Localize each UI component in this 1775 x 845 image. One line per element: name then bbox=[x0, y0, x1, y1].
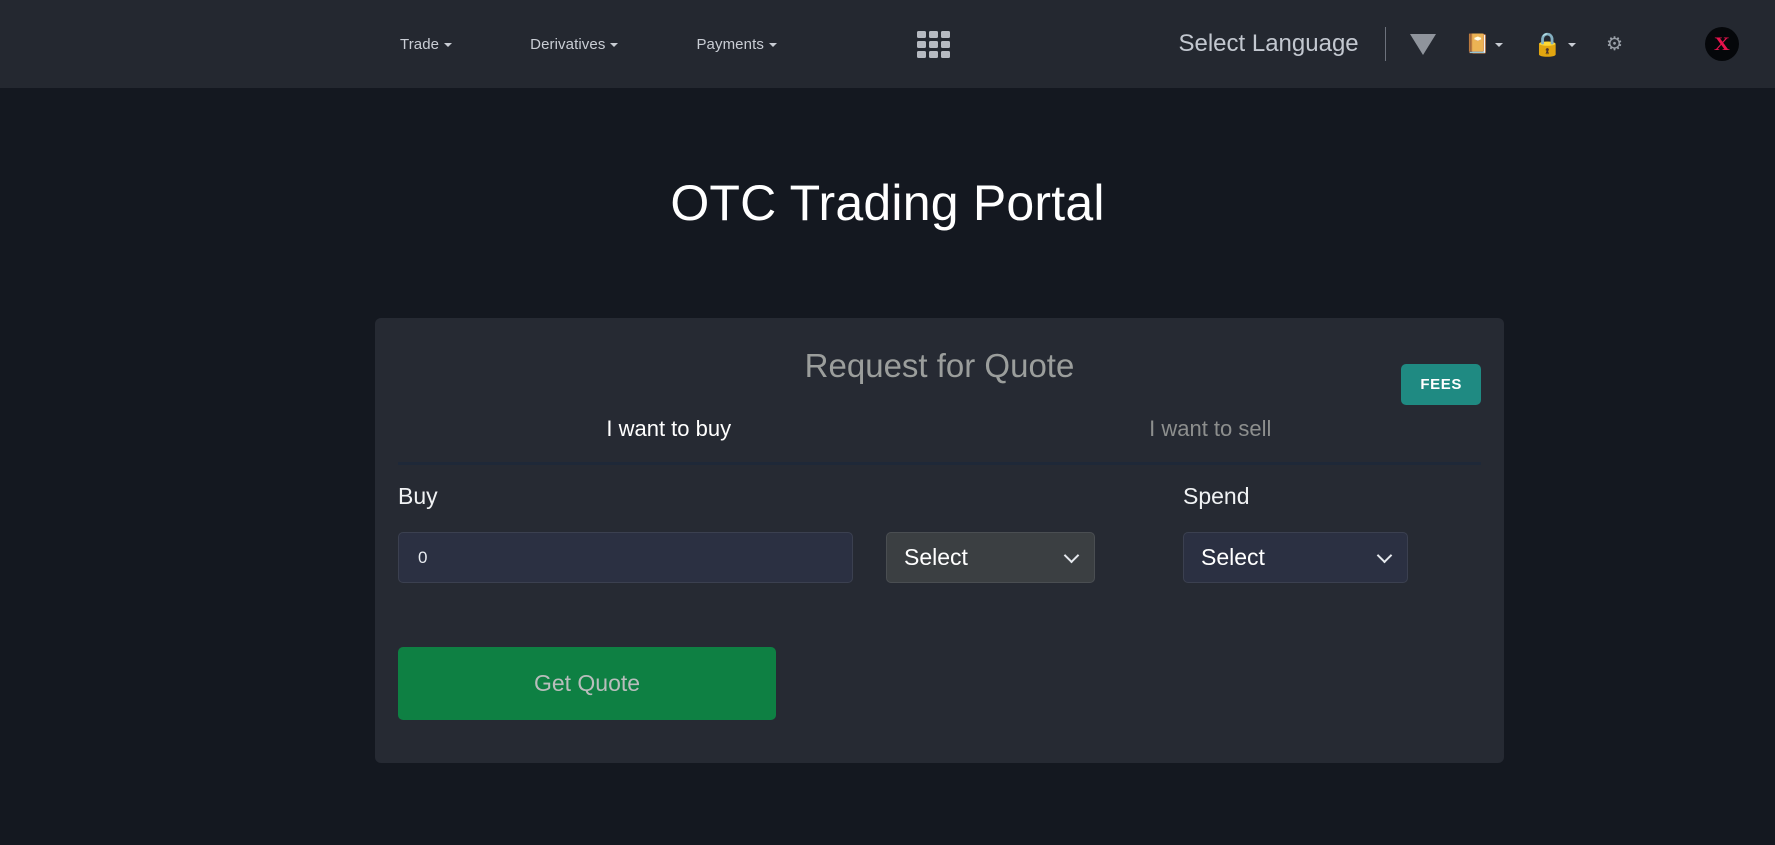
nav-item-payments[interactable]: Payments bbox=[696, 36, 777, 53]
grid-cell bbox=[929, 51, 938, 58]
caret-down-icon bbox=[610, 43, 618, 47]
buy-currency-select-value: Select bbox=[904, 544, 968, 571]
grid-cell bbox=[917, 51, 926, 58]
caret-down-icon bbox=[769, 43, 777, 47]
get-quote-button[interactable]: Get Quote bbox=[398, 647, 776, 720]
buy-input-row: Select bbox=[398, 532, 1140, 583]
nav-item-derivatives-label: Derivatives bbox=[530, 36, 605, 53]
triangle-down-icon[interactable] bbox=[1410, 34, 1436, 55]
grid-cell bbox=[917, 41, 926, 48]
buy-currency-select[interactable]: Select bbox=[886, 532, 1095, 583]
gear-glyph: ⚙ bbox=[1606, 35, 1623, 54]
select-language-button[interactable]: Select Language bbox=[1178, 30, 1358, 58]
tab-i-want-to-buy[interactable]: I want to buy bbox=[398, 416, 940, 442]
grid-apps-icon[interactable] bbox=[917, 31, 950, 58]
form-row: Buy Select Spend Select bbox=[398, 483, 1481, 583]
card-header: Request for Quote FEES bbox=[375, 318, 1504, 428]
spend-currency-select-value: Select bbox=[1201, 544, 1265, 571]
spend-column: Spend Select bbox=[1183, 483, 1438, 583]
grid-cell bbox=[941, 51, 950, 58]
quote-form: Buy Select Spend Select Get Quote bbox=[398, 483, 1481, 720]
chevron-down-icon bbox=[1064, 548, 1080, 564]
tab-i-want-to-sell[interactable]: I want to sell bbox=[940, 416, 1482, 442]
buy-column: Buy Select bbox=[398, 483, 1140, 583]
chevron-down-icon bbox=[1495, 43, 1503, 47]
triangle-down-glyph bbox=[1410, 34, 1436, 55]
avatar-initial: X bbox=[1714, 35, 1730, 54]
buy-amount-input[interactable] bbox=[398, 532, 853, 583]
nav-item-derivatives[interactable]: Derivatives bbox=[530, 36, 618, 53]
lock-icon[interactable]: 🔒 bbox=[1533, 33, 1576, 56]
gear-icon[interactable]: ⚙ bbox=[1606, 35, 1623, 54]
nav-item-trade-label: Trade bbox=[400, 36, 439, 53]
nav-item-trade[interactable]: Trade bbox=[400, 36, 452, 53]
book-icon[interactable]: 📔 bbox=[1466, 35, 1504, 54]
grid-cell bbox=[941, 41, 950, 48]
request-for-quote-card: Request for Quote FEES I want to buy I w… bbox=[375, 318, 1504, 763]
grid-cell bbox=[917, 31, 926, 38]
card-title: Request for Quote bbox=[375, 347, 1504, 385]
grid-cell bbox=[941, 31, 950, 38]
caret-down-icon bbox=[444, 43, 452, 47]
spend-label: Spend bbox=[1183, 483, 1438, 510]
grid-cell bbox=[929, 41, 938, 48]
top-navigation-bar: Trade Derivatives Payments Select Langua… bbox=[0, 0, 1775, 88]
primary-nav-links: Trade Derivatives Payments bbox=[400, 31, 950, 58]
page-title: OTC Trading Portal bbox=[0, 174, 1775, 232]
grid-cell bbox=[929, 31, 938, 38]
lock-glyph: 🔒 bbox=[1533, 33, 1562, 56]
fees-button[interactable]: FEES bbox=[1401, 364, 1481, 405]
buy-label: Buy bbox=[398, 483, 1140, 510]
spend-currency-select[interactable]: Select bbox=[1183, 532, 1408, 583]
navbar-right-group: Select Language 📔 🔒 ⚙ X bbox=[1178, 27, 1775, 61]
nav-item-payments-label: Payments bbox=[696, 36, 764, 53]
buy-sell-tabs: I want to buy I want to sell bbox=[398, 416, 1481, 465]
book-glyph: 📔 bbox=[1466, 35, 1490, 54]
chevron-down-icon bbox=[1377, 548, 1393, 564]
navbar-divider bbox=[1385, 27, 1386, 61]
user-avatar[interactable]: X bbox=[1705, 27, 1739, 61]
chevron-down-icon bbox=[1568, 43, 1576, 47]
